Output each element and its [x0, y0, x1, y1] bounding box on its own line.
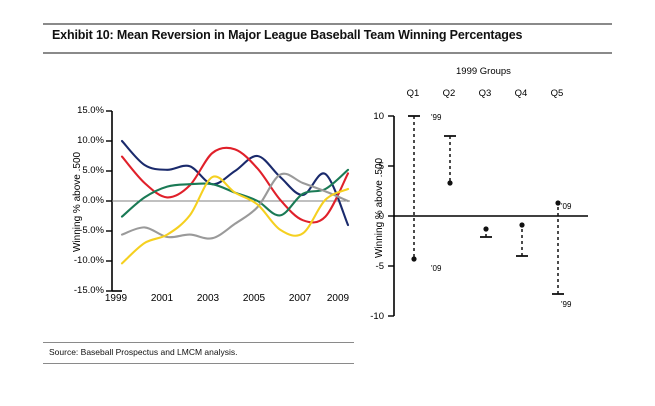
right-group-label-q2: Q2 — [434, 88, 464, 99]
exhibit-figure: Exhibit 10: Mean Reversion in Major Leag… — [0, 0, 655, 406]
right-chart-svg — [360, 108, 610, 328]
left-chart-svg — [60, 95, 360, 310]
left-series-line-q1 — [122, 141, 348, 225]
right-group-label-q1: Q1 — [398, 88, 428, 99]
left-chart-series-group — [122, 141, 348, 263]
left-ytick-m5: -5.0% — [56, 225, 104, 236]
left-ytick-5: 5.0% — [56, 165, 104, 176]
marker-2009-q4 — [519, 222, 524, 227]
marker-2009-q3 — [483, 226, 488, 231]
marker-2009-q2 — [447, 180, 452, 185]
source-note: Source: Baseball Prospectus and LMCM ana… — [49, 347, 238, 357]
annotation-q5-1999: '99 — [561, 300, 571, 309]
right-chart-heading: 1999 Groups — [456, 66, 511, 77]
right-ytick-5: 5 — [356, 161, 384, 172]
left-xtick-2005: 2005 — [234, 293, 274, 304]
right-group-label-q5: Q5 — [542, 88, 572, 99]
marker-2009-q5 — [555, 200, 560, 205]
left-line-chart — [60, 95, 360, 310]
right-ytick-0: 0 — [356, 211, 384, 222]
left-series-line-q5 — [122, 176, 348, 263]
marker-2009-q1 — [411, 256, 416, 261]
right-ytick-m5: -5 — [350, 261, 384, 272]
right-chart-axis — [388, 116, 394, 316]
source-top-rule — [43, 342, 354, 343]
right-y-axis-title: Winning % above .500 — [374, 158, 385, 258]
right-group-label-q3: Q3 — [470, 88, 500, 99]
right-scatter-chart — [360, 108, 610, 328]
title-top-rule — [43, 23, 612, 25]
left-ytick-10: 10.0% — [56, 135, 104, 146]
left-xtick-2003: 2003 — [188, 293, 228, 304]
annotation-q5-2009: '09 — [561, 202, 571, 211]
left-xtick-2009: 2009 — [318, 293, 358, 304]
page-title: Exhibit 10: Mean Reversion in Major Leag… — [52, 28, 522, 42]
right-ytick-m10: -10 — [350, 311, 384, 322]
annotation-q1-1999: '99 — [431, 113, 441, 122]
source-bottom-rule — [43, 363, 354, 364]
right-group-label-q4: Q4 — [506, 88, 536, 99]
left-ytick-15: 15.0% — [56, 105, 104, 116]
left-ytick-0: 0.0% — [56, 195, 104, 206]
annotation-q1-2009: '09 — [431, 264, 441, 273]
left-ytick-m10: -10.0% — [56, 255, 104, 266]
left-xtick-1999: 1999 — [96, 293, 136, 304]
left-series-line-q2 — [122, 148, 348, 223]
left-xtick-2001: 2001 — [142, 293, 182, 304]
left-xtick-2007: 2007 — [280, 293, 320, 304]
right-ytick-10: 10 — [356, 111, 384, 122]
title-bottom-rule — [43, 52, 612, 54]
